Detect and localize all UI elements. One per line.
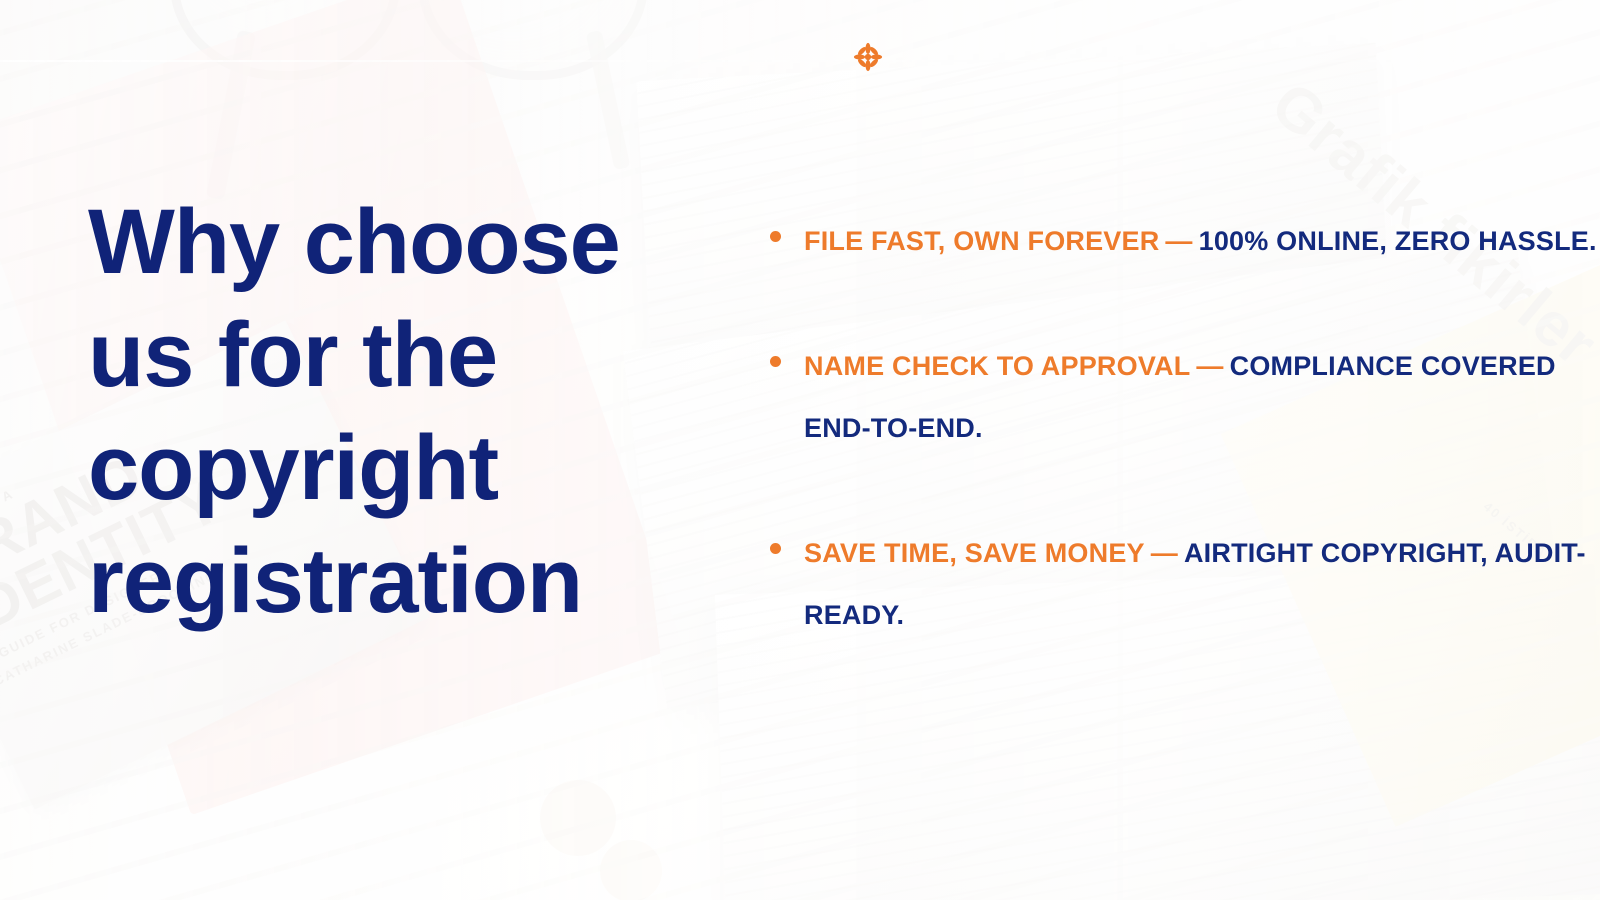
list-item-dash: — xyxy=(1151,538,1178,568)
list-item-rest: 100% ONLINE, ZERO HASSLE. xyxy=(1199,226,1597,256)
slide-root: Grafik fikirler 40 İSTİDA CREATING A BRA… xyxy=(0,0,1600,900)
list-item-text: NAME CHECK TO APPROVAL—COMPLIANCE COVERE… xyxy=(804,335,1600,459)
list-item-lead: SAVE TIME, SAVE MONEY xyxy=(804,538,1145,568)
flower-asterisk-logo-icon xyxy=(852,41,884,73)
list-item-lead: NAME CHECK TO APPROVAL xyxy=(804,351,1190,381)
bullet-dot-icon xyxy=(770,356,781,367)
list-item-text: SAVE TIME, SAVE MONEY—AIRTIGHT COPYRIGHT… xyxy=(804,522,1600,646)
bullet-dot-icon xyxy=(770,543,781,554)
list-item: NAME CHECK TO APPROVAL—COMPLIANCE COVERE… xyxy=(770,335,1600,459)
slide-content: Why choose us for the copyright registra… xyxy=(0,0,1600,900)
list-item-dash: — xyxy=(1196,351,1223,381)
page-title: Why choose us for the copyright registra… xyxy=(88,186,688,639)
list-item-text: FILE FAST, OWN FOREVER—100% ONLINE, ZERO… xyxy=(804,210,1600,272)
list-item-dash: — xyxy=(1165,226,1192,256)
list-item: FILE FAST, OWN FOREVER—100% ONLINE, ZERO… xyxy=(770,210,1600,272)
list-item: SAVE TIME, SAVE MONEY—AIRTIGHT COPYRIGHT… xyxy=(770,522,1600,646)
bullet-dot-icon xyxy=(770,231,781,242)
list-item-lead: FILE FAST, OWN FOREVER xyxy=(804,226,1159,256)
benefits-list: FILE FAST, OWN FOREVER—100% ONLINE, ZERO… xyxy=(770,210,1600,646)
